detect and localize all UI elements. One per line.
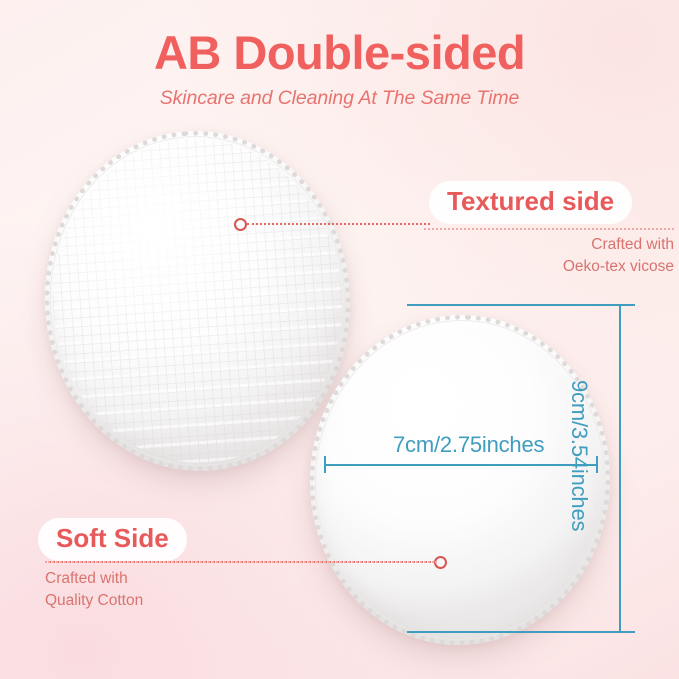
textured-side-label: Textured side bbox=[429, 181, 632, 224]
textured-side-marker-icon bbox=[234, 218, 247, 231]
width-dimension-line bbox=[324, 464, 598, 466]
cotton-pad-textured bbox=[34, 121, 362, 481]
soft-side-description-line-2: Quality Cotton bbox=[45, 590, 143, 612]
height-dimension-extension-top bbox=[407, 304, 635, 306]
width-dimension-cap-right bbox=[596, 456, 598, 473]
textured-side-description: Crafted with Oeko-tex vicose bbox=[424, 234, 674, 279]
height-dimension-line bbox=[619, 304, 621, 633]
textured-side-description-line-2: Oeko-tex vicose bbox=[424, 256, 674, 278]
soft-side-description-line-1: Crafted with bbox=[45, 568, 143, 590]
textured-side-divider bbox=[424, 228, 674, 230]
height-dimension-label: 9cm/3.54inches bbox=[566, 380, 592, 531]
soft-side-label: Soft Side bbox=[38, 518, 187, 561]
textured-side-description-line-1: Crafted with bbox=[424, 234, 674, 256]
soft-side-divider bbox=[45, 561, 437, 563]
height-dimension-extension-bottom bbox=[407, 631, 635, 633]
textured-side-leader-line bbox=[247, 223, 430, 225]
page-subtitle: Skincare and Cleaning At The Same Time bbox=[0, 87, 679, 110]
pad-inner-edge-textured bbox=[39, 126, 356, 476]
page-title: AB Double-sided bbox=[0, 28, 679, 77]
width-dimension-label: 7cm/2.75inches bbox=[393, 432, 544, 458]
soft-side-description: Crafted with Quality Cotton bbox=[45, 568, 143, 613]
width-dimension-cap-left bbox=[324, 456, 326, 473]
product-infographic: AB Double-sided Skincare and Cleaning At… bbox=[0, 0, 679, 679]
